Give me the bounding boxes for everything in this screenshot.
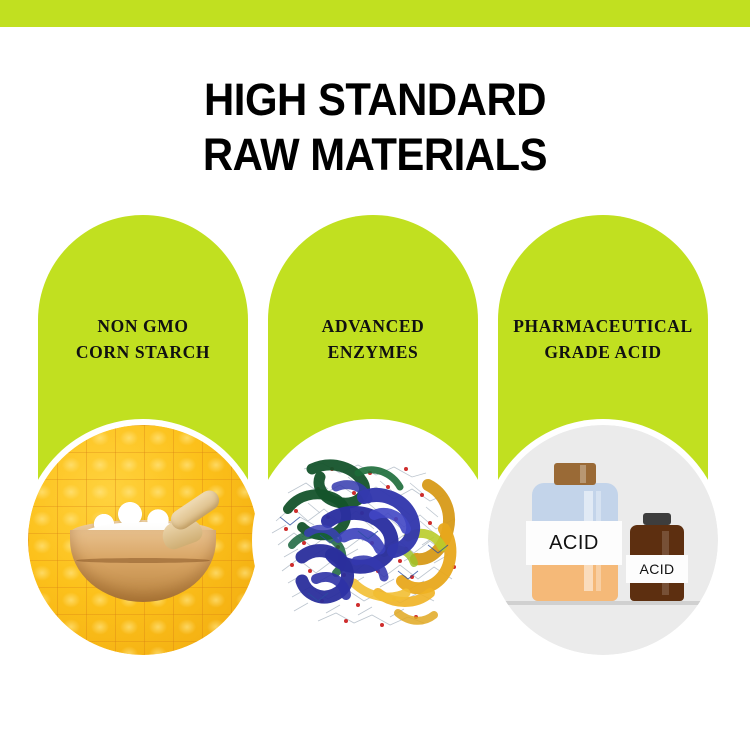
card-3-label: PHARMACEUTICAL GRADE ACID: [498, 313, 708, 365]
large-bottle-label: ACID: [526, 521, 622, 565]
card-3-label-line-2: GRADE ACID: [498, 339, 708, 365]
enzyme-image-inner: [258, 425, 488, 655]
poster-canvas: HIGH STANDARD RAW MATERIALS NON GMO CORN…: [0, 0, 750, 740]
small-bottle-cap: [643, 513, 671, 525]
small-bottle-label-text: ACID: [639, 561, 674, 577]
small-bottle-label: ACID: [626, 555, 688, 583]
large-bottle-cap: [554, 463, 596, 485]
card-2-label: ADVANCED ENZYMES: [268, 313, 478, 365]
wooden-bowl: [70, 506, 216, 602]
large-bottle-cap-highlight: [580, 465, 586, 483]
card-3-label-line-1: PHARMACEUTICAL: [498, 313, 708, 339]
cards-row: NON GMO CORN STARCH ADVANCED ENZYMES PHA…: [0, 0, 750, 740]
large-acid-bottle: ACID: [532, 473, 618, 601]
large-bottle-label-text: ACID: [549, 532, 599, 555]
corn-starch-image: [28, 425, 258, 655]
acid-bottles-image: ACID ACID: [488, 425, 718, 655]
card-1-label-line-2: CORN STARCH: [38, 339, 248, 365]
card-1-label: NON GMO CORN STARCH: [38, 313, 248, 365]
small-acid-bottle: ACID: [630, 515, 684, 601]
card-2-label-line-2: ENZYMES: [268, 339, 478, 365]
enzyme-image: [258, 425, 488, 655]
card-2-label-line-1: ADVANCED: [268, 313, 478, 339]
enzyme-protein-ribbon-diagram: [258, 425, 488, 655]
corn-starch-image-inner: [28, 425, 258, 655]
shelf-shadow: [502, 601, 704, 605]
card-1-label-line-1: NON GMO: [38, 313, 248, 339]
acid-bottles-image-inner: ACID ACID: [488, 425, 718, 655]
protein-ribbon-svg: [258, 425, 488, 655]
bowl-groove-line: [76, 558, 210, 563]
